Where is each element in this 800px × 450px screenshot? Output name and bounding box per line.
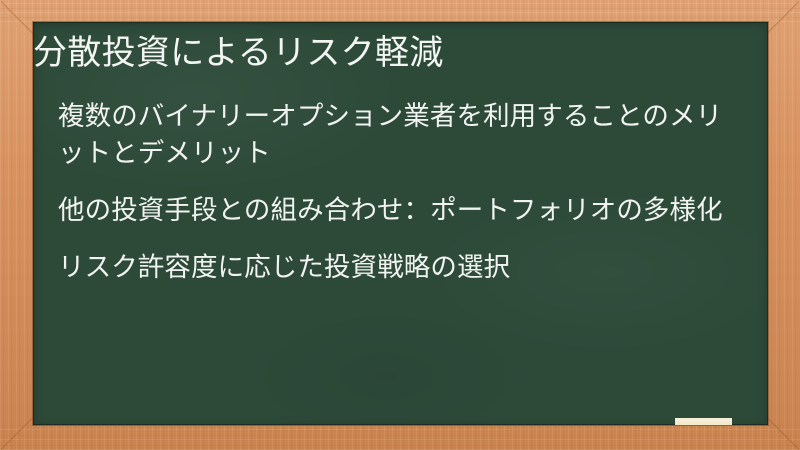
slide-title: 分散投資によるリスク軽減 bbox=[33, 31, 733, 75]
bullet-item: 複数のバイナリーオプション業者を利用することのメリットとデメリット bbox=[58, 98, 730, 172]
chalk-stick-icon bbox=[675, 418, 732, 425]
frame-grain-top bbox=[0, 0, 800, 22]
slide-content: 分散投資によるリスク軽減 複数のバイナリーオプション業者を利用することのメリット… bbox=[33, 22, 768, 425]
bullet-list: 複数のバイナリーオプション業者を利用することのメリットとデメリット 他の投資手段… bbox=[58, 98, 758, 286]
bullet-item: リスク許容度に応じた投資戦略の選択 bbox=[58, 249, 730, 286]
chalkboard: 分散投資によるリスク軽減 複数のバイナリーオプション業者を利用することのメリット… bbox=[33, 22, 768, 425]
frame-grain-bottom bbox=[0, 425, 800, 450]
bullet-item: 他の投資手段との組み合わせ：ポートフォリオの多様化 bbox=[58, 192, 730, 229]
slide-canvas: 分散投資によるリスク軽減 複数のバイナリーオプション業者を利用することのメリット… bbox=[0, 0, 800, 450]
